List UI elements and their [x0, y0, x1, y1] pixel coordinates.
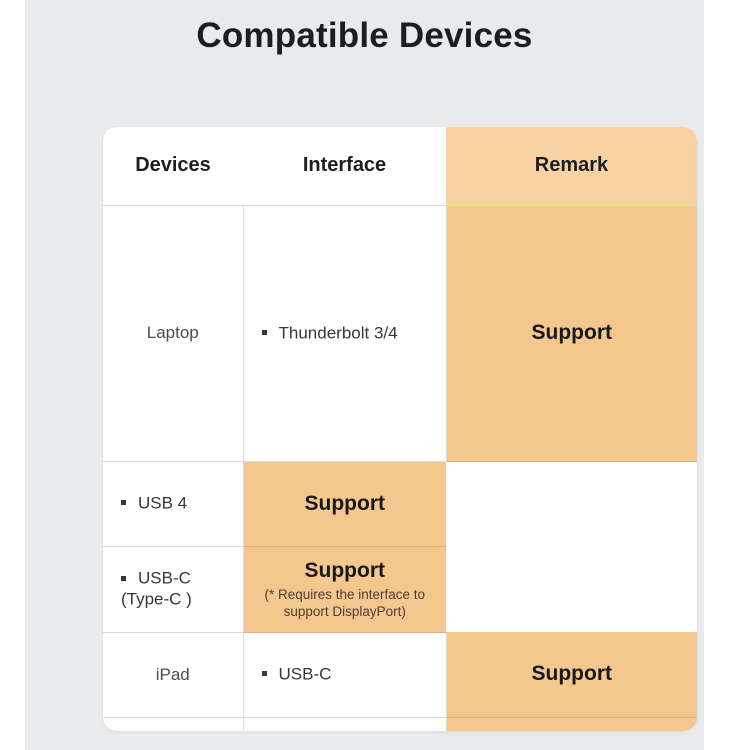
table-row: USB-C (Type-C ) Support (* Requires the … — [103, 546, 697, 632]
device-cell-laptop: Laptop — [103, 205, 243, 461]
interface-cell: USB-C — [243, 632, 446, 717]
remark-status: Support — [252, 558, 439, 584]
page-title: Compatible Devices — [25, 12, 704, 60]
remark-note: (* Requires the interface to support Dis… — [252, 586, 439, 620]
compatibility-table-card: Devices Interface Remark Laptop Thunderb… — [103, 127, 697, 731]
remark-status: Support — [455, 661, 690, 687]
remark-cell: Support — [243, 461, 446, 546]
table-header-row: Devices Interface Remark — [103, 127, 697, 205]
table-row: Laptop Thunderbolt 3/4 Support — [103, 205, 697, 461]
remark-cell: Support — [446, 205, 697, 461]
device-label: Laptop — [147, 323, 199, 342]
interface-cell: USB 4 — [103, 461, 243, 546]
remark-status: Support — [252, 491, 439, 517]
table-row: Mobile Phone/ Tablet USB-C (Type-C ) Par… — [103, 717, 697, 731]
square-bullet-icon — [121, 500, 126, 505]
remark-cell: Partial Support (* Requires USB3.1/3.2 i… — [446, 717, 697, 731]
table-row: USB 4 Support — [103, 461, 697, 546]
device-cell-ipad: iPad — [103, 632, 243, 717]
interface-label: USB-C — [279, 665, 332, 684]
interface-label: Thunderbolt 3/4 — [279, 323, 398, 342]
page-panel: Compatible Devices Devices Interface Rem… — [25, 0, 704, 750]
device-cell-mobile-phone-tablet: Mobile Phone/ Tablet — [103, 717, 243, 731]
interface-cell: Thunderbolt 3/4 — [243, 205, 446, 461]
interface-label: USB-C (Type-C ) — [121, 569, 192, 609]
column-header-remark: Remark — [446, 127, 697, 205]
interface-label: USB 4 — [138, 494, 187, 513]
table-row: iPad USB-C Support — [103, 632, 697, 717]
square-bullet-icon — [121, 576, 126, 581]
compatibility-table: Devices Interface Remark Laptop Thunderb… — [103, 127, 697, 731]
page-root: Compatible Devices Devices Interface Rem… — [0, 0, 750, 750]
device-label: iPad — [156, 665, 190, 684]
remark-cell: Support (* Requires the interface to sup… — [243, 546, 446, 632]
column-header-devices: Devices — [103, 127, 243, 205]
remark-cell: Support — [446, 632, 697, 717]
square-bullet-icon — [262, 330, 267, 335]
interface-cell: USB-C (Type-C ) — [243, 717, 446, 731]
interface-cell: USB-C (Type-C ) — [103, 546, 243, 632]
remark-status: Support — [455, 320, 690, 346]
square-bullet-icon — [262, 671, 267, 676]
column-header-interface: Interface — [243, 127, 446, 205]
